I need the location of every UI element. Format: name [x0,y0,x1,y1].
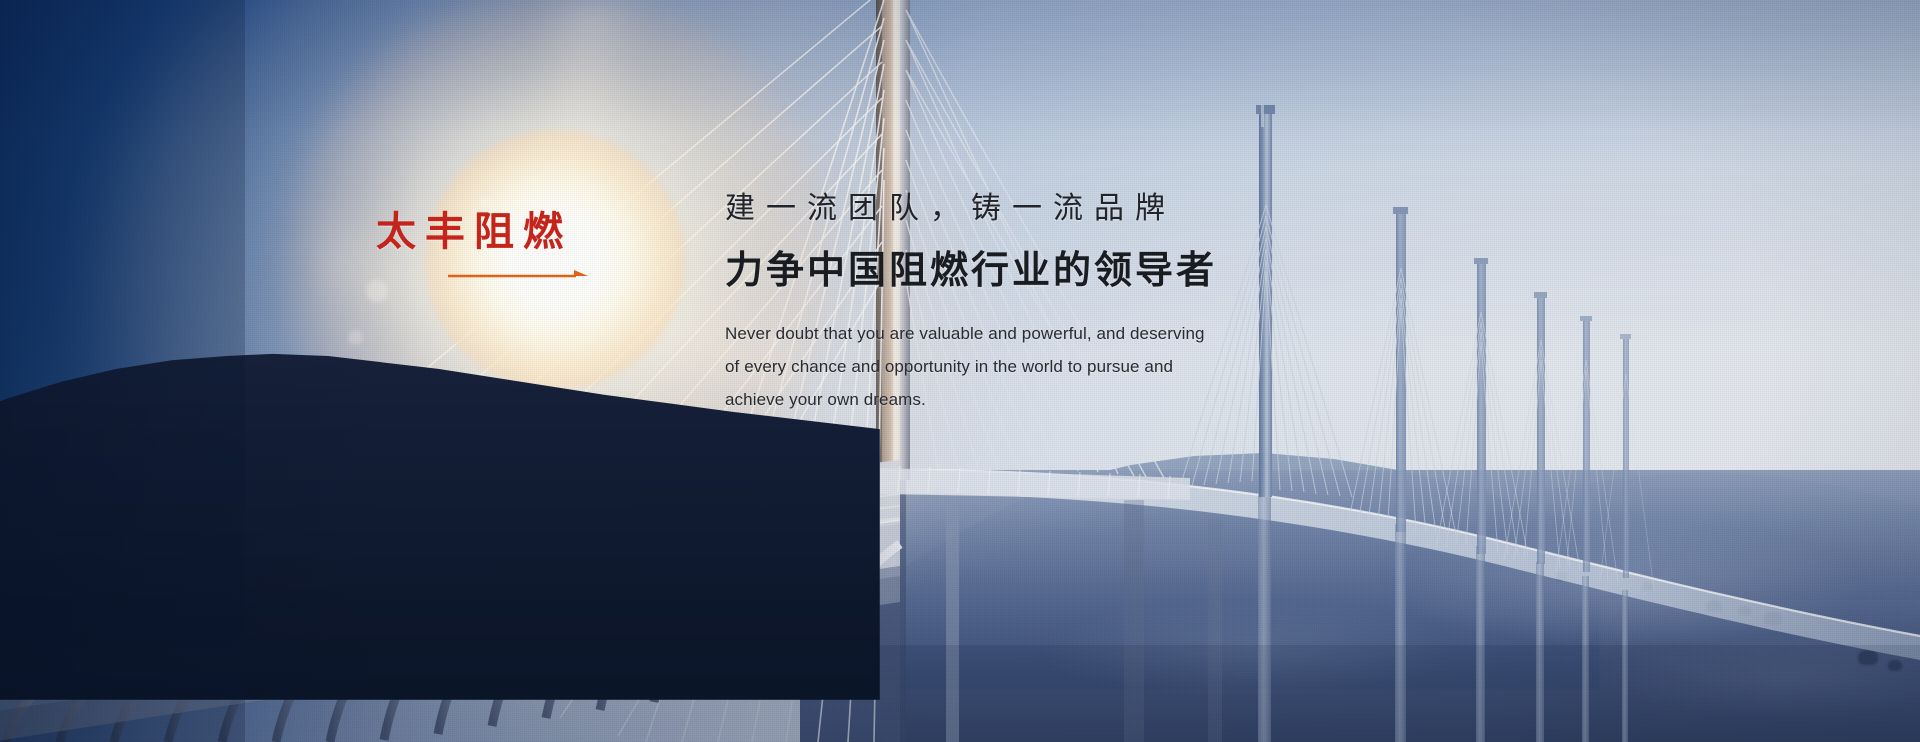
hero-banner: 太丰阻燃 建一流团队，铸一流品牌 力争中国阻燃行业的领导者 Never doub… [0,0,1920,742]
description-line: achieve your own dreams. [725,383,1285,416]
left-overlay-panel [0,0,245,742]
headline-primary: 建一流团队，铸一流品牌 [725,190,1425,228]
bottom-overlay-panel [0,645,1920,742]
headline-secondary: 力争中国阻燃行业的领导者 [725,246,1425,295]
brand-logo[interactable]: 太丰阻燃 [376,212,636,284]
arrow-right-icon [448,268,588,284]
description-line: of every chance and opportunity in the w… [725,350,1285,383]
description-line: Never doubt that you are valuable and po… [725,317,1285,350]
lens-flare-dot [348,330,363,345]
hero-description: Never doubt that you are valuable and po… [725,317,1285,416]
hero-copy: 建一流团队，铸一流品牌 力争中国阻燃行业的领导者 Never doubt tha… [725,190,1425,416]
lens-flare-dot [480,196,492,208]
brand-name: 太丰阻燃 [376,212,636,252]
